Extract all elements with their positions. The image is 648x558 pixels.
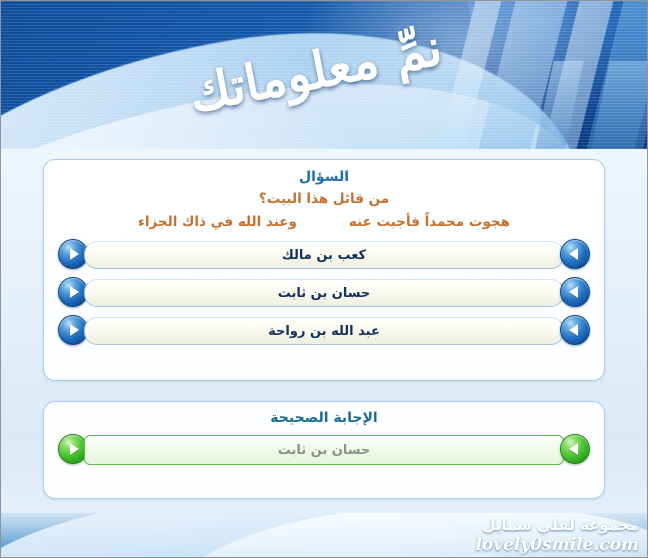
question-prompt: من قائل هذا البيت؟ xyxy=(44,191,604,207)
play-left-icon[interactable] xyxy=(560,239,590,269)
triangle-left-glyph xyxy=(569,248,578,260)
option-bar[interactable]: حسان بن ثابت xyxy=(84,279,564,307)
triangle-left-glyph xyxy=(569,286,578,298)
correct-answer-text: حسان بن ثابت xyxy=(278,443,371,458)
correct-answer-row[interactable]: حسان بن ثابت xyxy=(58,435,590,463)
correct-answer-panel: الإجابة الصحيحة حسان بن ثابت xyxy=(43,401,605,499)
triangle-right-glyph xyxy=(70,248,79,260)
footer-brand-arabic: مجموعة لفلي سمايل xyxy=(475,516,639,535)
main-content: lovely0smile.com السؤال من قائل هذا البي… xyxy=(1,149,647,513)
correct-answer-heading: الإجابة الصحيحة xyxy=(44,410,604,426)
option-row[interactable]: كعب بن مالك xyxy=(58,241,590,267)
footer-brand: مجموعة لفلي سمايل lovely0smile.com xyxy=(475,516,639,556)
footer-brand-site: lovely0smile.com xyxy=(475,535,639,556)
option-label: كعب بن مالك xyxy=(282,248,366,263)
options-list: كعب بن مالك حسان بن ثابت xyxy=(44,241,604,343)
triangle-left-glyph xyxy=(569,443,578,455)
quiz-app-window: نمِّ معلوماتك lovely0smile.com السؤال من… xyxy=(0,0,648,558)
question-heading: السؤال xyxy=(44,169,604,185)
play-left-icon[interactable] xyxy=(560,315,590,345)
option-label: حسان بن ثابت xyxy=(278,286,371,301)
question-panel: السؤال من قائل هذا البيت؟ هجوت محمداً فأ… xyxy=(43,159,605,381)
triangle-right-glyph xyxy=(70,286,79,298)
option-bar[interactable]: عبد الله بن رواحة xyxy=(84,317,564,345)
option-bar[interactable]: كعب بن مالك xyxy=(84,241,564,269)
triangle-right-glyph xyxy=(70,324,79,336)
header-banner: نمِّ معلوماتك xyxy=(1,1,647,149)
triangle-right-glyph xyxy=(70,443,79,455)
play-left-icon[interactable] xyxy=(560,434,590,464)
play-left-icon[interactable] xyxy=(560,277,590,307)
correct-answer-bar: حسان بن ثابت xyxy=(84,435,564,465)
triangle-left-glyph xyxy=(569,324,578,336)
verse-hemistich-second: وعند الله في ذاك الجزاء xyxy=(138,214,297,230)
verse-hemistich-first: هجوت محمداً فأجبت عنه xyxy=(349,214,510,230)
footer-banner: مجموعة لفلي سمايل lovely0smile.com xyxy=(1,513,647,558)
option-row[interactable]: عبد الله بن رواحة xyxy=(58,317,590,343)
option-row[interactable]: حسان بن ثابت xyxy=(58,279,590,305)
option-label: عبد الله بن رواحة xyxy=(268,324,380,339)
question-verse: هجوت محمداً فأجبت عنه وعند الله في ذاك ا… xyxy=(44,214,604,230)
